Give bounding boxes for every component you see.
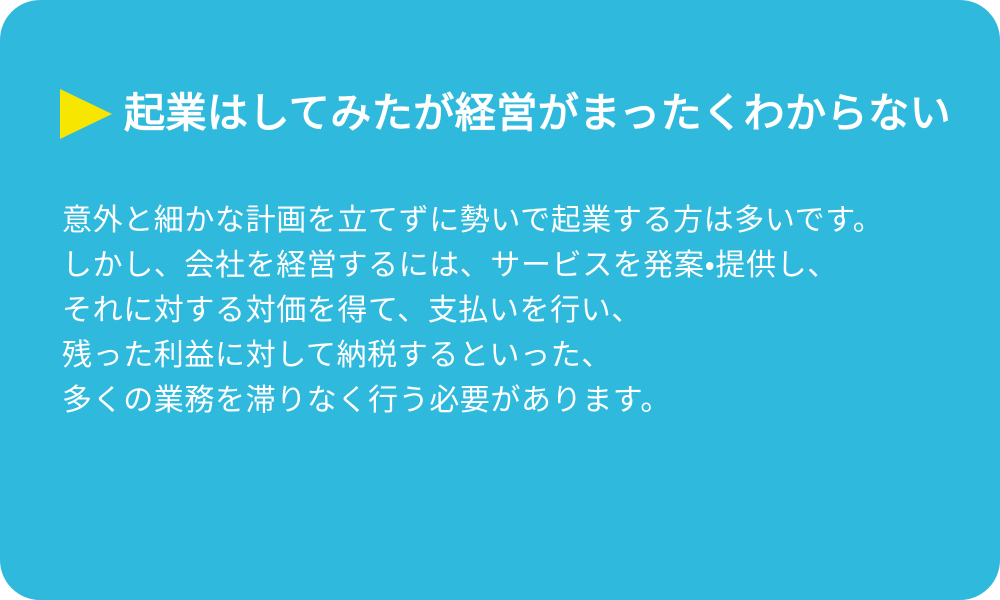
body-line: 残った利益に対して納税するといった、 [62, 333, 942, 378]
play-triangle-icon [60, 89, 112, 139]
body-line: それに対する対価を得て、支払いを行い、 [62, 288, 942, 333]
body-line: 意外と細かな計画を立てずに勢いで起業する方は多いです。 [62, 198, 942, 243]
body-paragraph: 意外と細かな計画を立てずに勢いで起業する方は多いです。 しかし、会社を経営するに… [62, 198, 942, 423]
info-card: 起業はしてみたが経営がまったくわからない 意外と細かな計画を立てずに勢いで起業す… [0, 0, 1000, 600]
body-line: しかし、会社を経営するには、サービスを発案・提供し、 [62, 243, 942, 288]
body-line: 多くの業務を滞りなく行う必要があります。 [62, 378, 942, 423]
page-title: 起業はしてみたが経営がまったくわからない [124, 93, 951, 134]
heading-row: 起業はしてみたが経営がまったくわからない [60, 78, 951, 148]
